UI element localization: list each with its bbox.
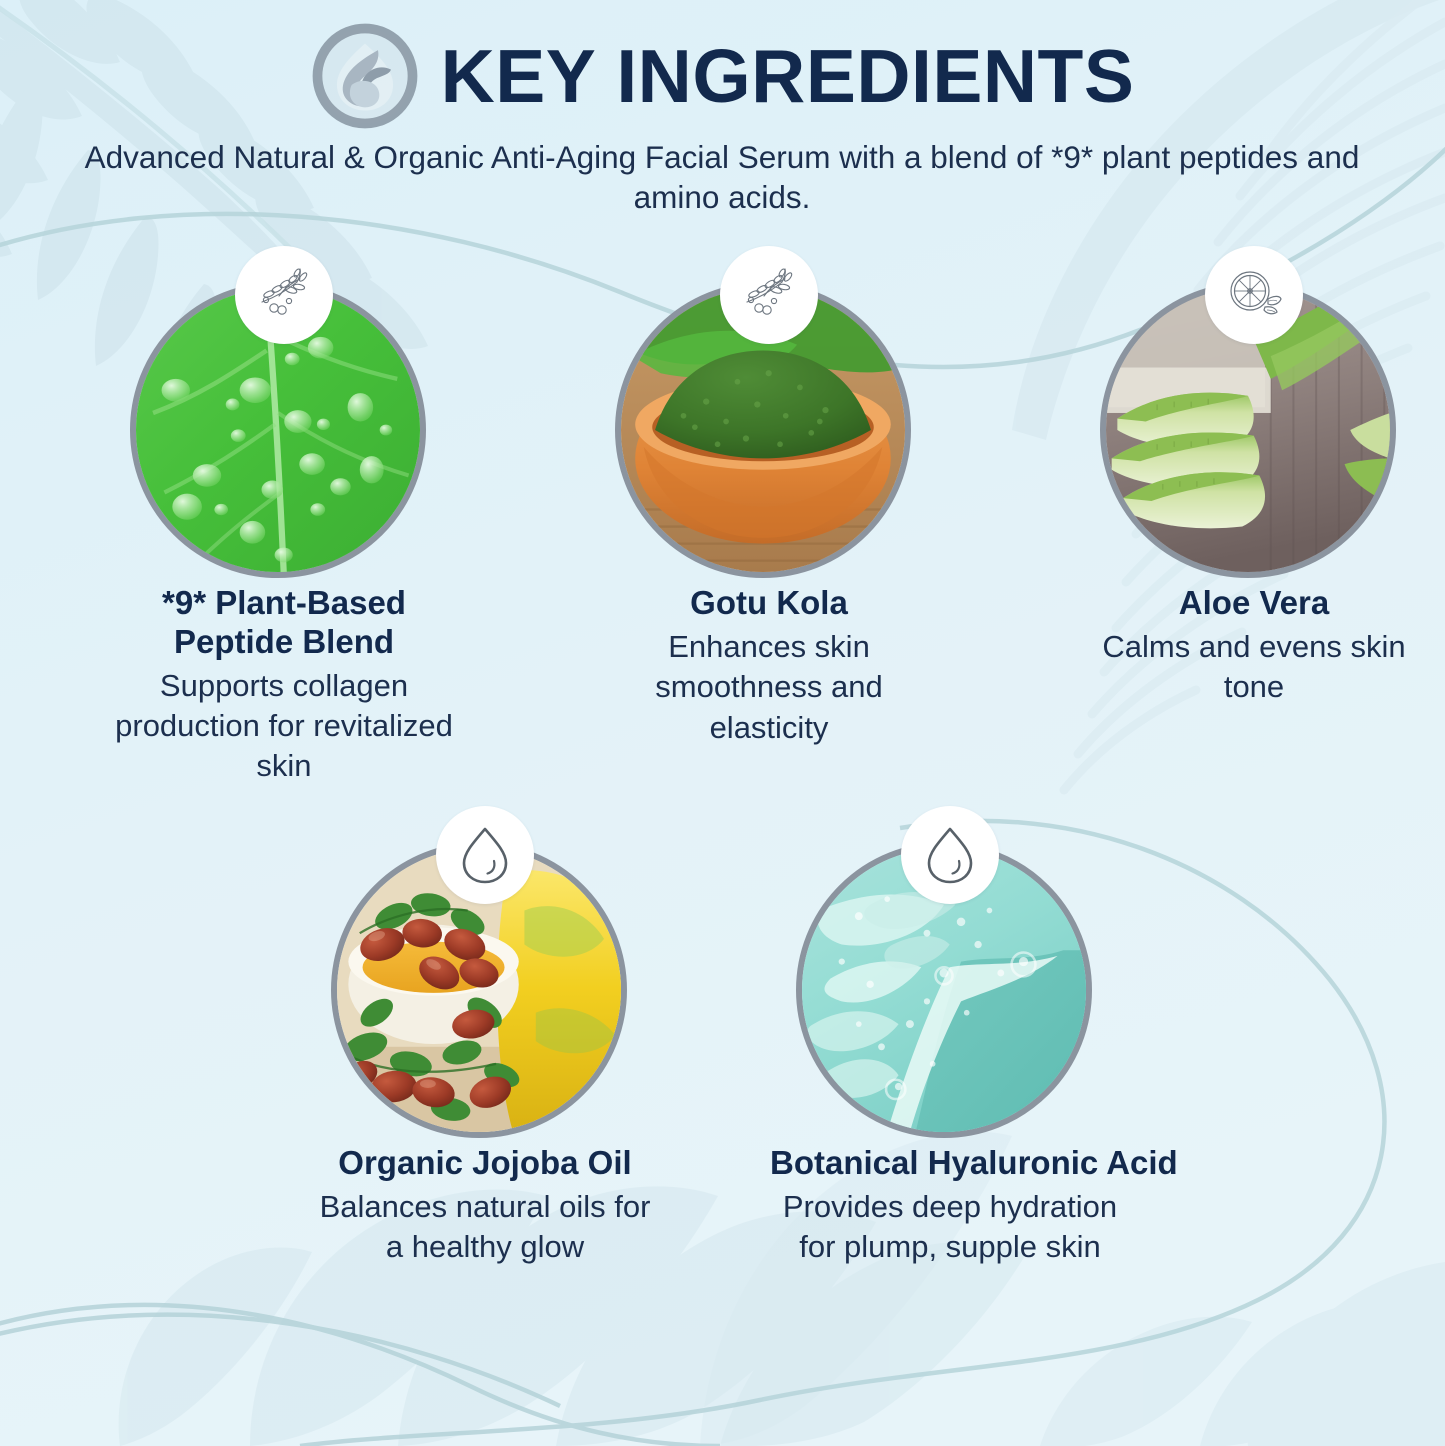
- page-title: KEY INGREDIENTS: [441, 39, 1135, 114]
- ingredient-card-aloe-vera: Aloe Vera Calms and evens skin tone: [1074, 258, 1434, 787]
- badge-water-droplet-icon: [436, 806, 534, 904]
- ingredient-media: [1100, 258, 1408, 566]
- ingredient-title: *9* Plant-Based Peptide Blend: [119, 584, 449, 662]
- ingredient-title: Gotu Kola: [690, 584, 848, 623]
- badge-water-droplet-icon: [901, 806, 999, 904]
- ingredient-title: Aloe Vera: [1179, 584, 1329, 623]
- ingredient-media: [130, 258, 438, 566]
- ingredient-description: Provides deep hydration for plump, suppl…: [770, 1187, 1130, 1268]
- ingredient-card-organic-jojoba-oil: Organic Jojoba Oil Balances natural oils…: [305, 818, 665, 1268]
- ingredient-card-botanical-hyaluronic-acid: Botanical Hyaluronic Acid Provides deep …: [770, 818, 1130, 1268]
- ingredient-description: Calms and evens skin tone: [1074, 627, 1434, 708]
- ingredient-card-gotu-kola: Gotu Kola Enhances skin smoothness and e…: [589, 258, 949, 787]
- ingredient-title: Botanical Hyaluronic Acid: [770, 1144, 1130, 1183]
- badge-herb-branch-icon: [720, 246, 818, 344]
- ingredient-description: Balances natural oils for a healthy glow: [313, 1187, 658, 1268]
- ingredient-media: [331, 818, 639, 1126]
- ingredient-description: Enhances skin smoothness and elasticity: [619, 627, 919, 748]
- ingredient-card-plant-based-peptide-blend: *9* Plant-Based Peptide Blend Supports c…: [104, 258, 464, 787]
- ingredient-row-bottom: Organic Jojoba Oil Balances natural oils…: [0, 818, 1445, 1268]
- badge-citrus-slice-icon: [1205, 246, 1303, 344]
- water-droplet-icon: [456, 823, 514, 887]
- ingredient-description: Supports collagen production for revital…: [104, 666, 464, 787]
- droplet-swirl-logo-icon: [311, 22, 419, 130]
- page-header: KEY INGREDIENTS: [0, 22, 1445, 130]
- ingredient-title: Organic Jojoba Oil: [338, 1144, 631, 1183]
- water-droplet-icon: [921, 823, 979, 887]
- citrus-slice-icon: [1222, 263, 1286, 327]
- ingredient-row-top: *9* Plant-Based Peptide Blend Supports c…: [0, 258, 1445, 787]
- ingredient-media: [615, 258, 923, 566]
- ingredient-media: [796, 818, 1104, 1126]
- herb-branch-icon: [253, 264, 315, 326]
- badge-herb-branch-icon: [235, 246, 333, 344]
- herb-branch-icon: [738, 264, 800, 326]
- page-subtitle: Advanced Natural & Organic Anti-Aging Fa…: [72, 137, 1372, 218]
